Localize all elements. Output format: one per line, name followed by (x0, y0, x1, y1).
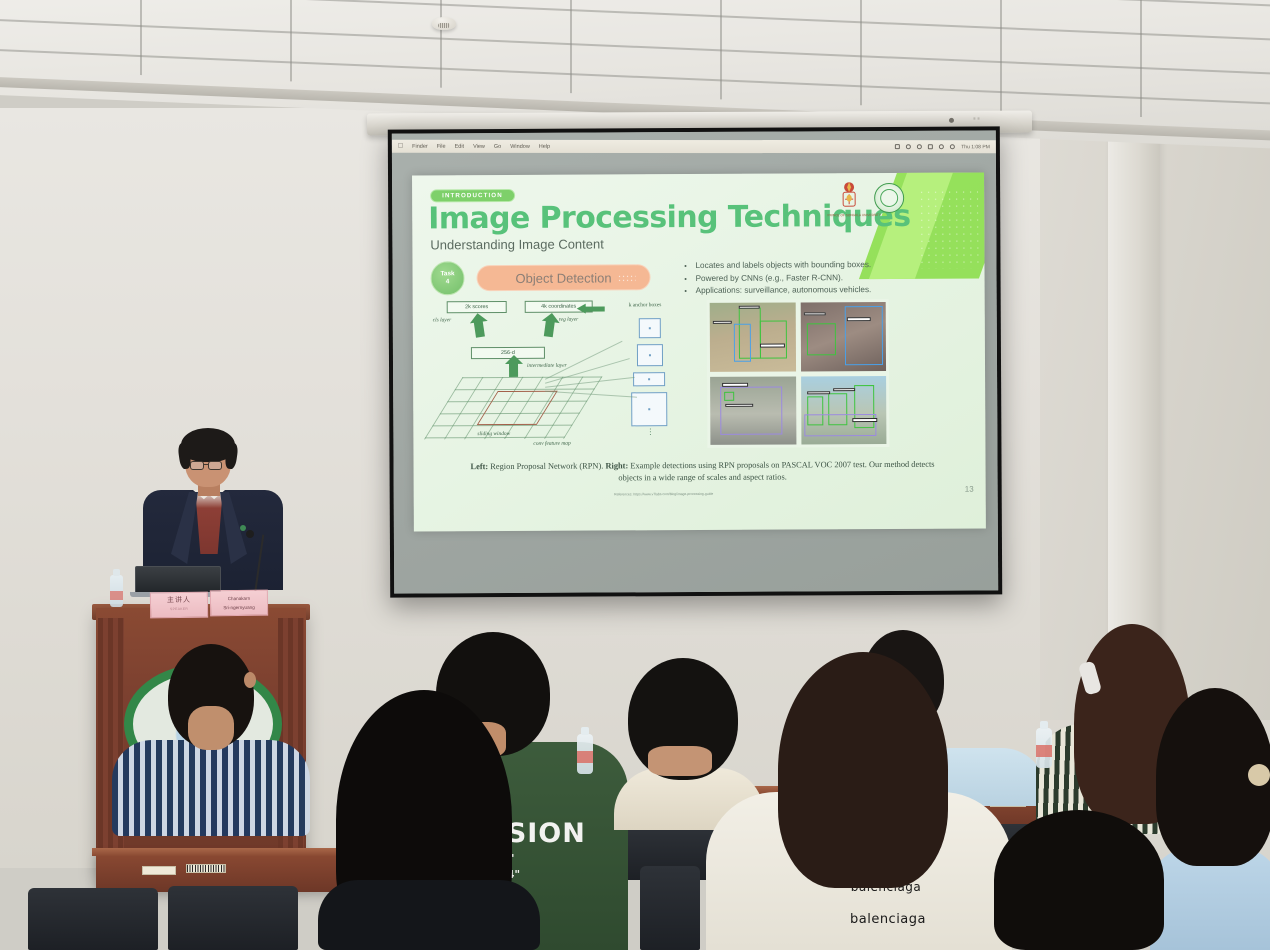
anchor-arrow-icon (585, 306, 605, 311)
wifi-icon[interactable] (906, 144, 911, 149)
projection-screen:  Finder File Edit View Go Window Help T… (388, 126, 1002, 597)
task-badge-label: Task (440, 270, 454, 278)
menu-bar-clock[interactable]: Thu 1:08 PM (961, 144, 990, 150)
name-card-speaker-first: Chanakarn (228, 594, 251, 603)
anchor-box (639, 318, 661, 338)
caption-right-text: Example detections using RPN proposals o… (618, 460, 934, 483)
screen-share-icon[interactable] (895, 144, 900, 149)
seat (28, 888, 158, 950)
person-hair (778, 652, 948, 888)
battery-icon[interactable] (928, 144, 933, 149)
arrow-to-cls-icon (474, 321, 485, 338)
caption-right-label: Right: (605, 461, 628, 470)
conv-feature-map-grid (424, 376, 602, 439)
arrow-to-intermediate-icon (509, 363, 518, 377)
detection-photo-indoor (800, 302, 886, 371)
task-badge: Task 4 (430, 261, 464, 295)
slide-number: 13 (965, 485, 974, 494)
person-neck (648, 746, 712, 776)
desk-row-left-top (92, 848, 350, 856)
menu-item-go[interactable]: Go (494, 143, 501, 149)
name-card-chinese-main: 主讲人 (167, 596, 191, 605)
seat (640, 866, 700, 950)
name-card-speaker-last: Sri-ngernyuang (223, 603, 255, 612)
menu-item-view[interactable]: View (473, 143, 485, 149)
anchor-box (637, 344, 663, 366)
podium-laptop (135, 566, 221, 594)
task-badge-number: 4 (446, 278, 450, 286)
seat (168, 886, 298, 950)
crest-caption: PRINCE OF SONGKLA UNIVERSITY (824, 213, 884, 217)
speaker-glasses-left-lens (190, 461, 204, 470)
rpn-diagram: 2k scores 4k coordinates 256-d cls layer… (433, 300, 694, 449)
diagram-label-reg: reg layer (559, 317, 578, 323)
name-card-chinese: 主讲人 SPEAKER (150, 592, 208, 619)
menu-item-edit[interactable]: Edit (455, 143, 464, 149)
caption-left-label: Left: (471, 462, 489, 471)
person-torso (318, 880, 540, 950)
bottle-label (110, 591, 123, 600)
menu-bar-status-area[interactable]: Thu 1:08 PM (895, 144, 990, 150)
menu-item-finder[interactable]: Finder (412, 143, 428, 149)
slide-subtitle: Understanding Image Content (430, 236, 604, 252)
diagram-label-intermediate: intermediate layer (527, 363, 567, 369)
caption-left-text: Region Proposal Network (RPN). (490, 461, 603, 471)
desk-barcode-tag (186, 864, 226, 873)
sliding-window-box (477, 391, 558, 425)
detection-photo-bus (710, 376, 796, 445)
person-torso (112, 740, 310, 836)
arrow-to-reg-icon (544, 320, 555, 337)
speaker-glasses-bridge (204, 464, 208, 465)
speaker-lapel-pin (240, 525, 246, 531)
search-icon[interactable] (950, 144, 955, 149)
university-seal-icon (874, 183, 904, 213)
menu-item-file[interactable]: File (437, 143, 446, 149)
water-bottle (1036, 728, 1052, 768)
lecture-hall-photo: ≡ ≡  Finder File Edit View Go Window He… (0, 0, 1270, 950)
housing-indicator-icon (949, 118, 954, 123)
housing-label: ≡ ≡ (973, 116, 980, 121)
person-ear (244, 672, 256, 688)
microphone-head-icon (246, 530, 254, 538)
person-neck (188, 706, 234, 750)
smoke-detector-icon (432, 17, 456, 30)
bluetooth-icon[interactable] (917, 144, 922, 149)
podium-water-bottle (110, 575, 123, 607)
thai-university-crest-icon (836, 181, 862, 211)
anchor-ellipsis: ⋮ (646, 430, 654, 433)
hoodie-brand-text-2: balenciaga (828, 912, 948, 927)
water-bottle (577, 734, 593, 774)
diagram-label-feature-map: conv feature map (533, 441, 570, 447)
person-hair (994, 810, 1164, 950)
diagram-label-cls: cls layer (433, 317, 451, 323)
slide-reference: References: https://www.v7labs.com/blog/… (514, 491, 814, 497)
diagram-box-scores: 2k scores (447, 301, 507, 313)
detection-photo-street (801, 375, 887, 444)
figure-caption: Left: Region Proposal Network (RPN). Rig… (460, 459, 946, 486)
presentation-slide: INTRODUCTION Image Processing Techniques… (412, 172, 986, 531)
topic-pill-label: Object Detection (515, 270, 611, 286)
apple-logo-icon[interactable]:  (398, 143, 403, 150)
pill-dots-decoration (618, 274, 636, 283)
anchor-box (633, 372, 665, 386)
menu-item-help[interactable]: Help (539, 143, 550, 149)
name-card-chinese-sub: SPEAKER (170, 605, 188, 614)
desk-asset-tag (142, 866, 176, 875)
menu-item-window[interactable]: Window (510, 143, 530, 149)
control-center-icon[interactable] (939, 144, 944, 149)
detection-photo-horses (710, 302, 796, 371)
bullet-item: Applications: surveillance, autonomous v… (696, 284, 965, 298)
speaker-glasses-right-lens (208, 461, 222, 470)
detection-examples-grid (707, 299, 890, 448)
hair-tie-icon (1248, 764, 1270, 786)
slide-accent-dots (918, 189, 978, 269)
slide-bullet-list: Locates and labels objects with bounding… (684, 259, 964, 298)
topic-pill: Object Detection (476, 264, 650, 291)
wall-column (1108, 108, 1160, 668)
mac-menu-bar[interactable]:  Finder File Edit View Go Window Help T… (392, 140, 996, 154)
diagram-label-anchor-boxes: k anchor boxes (629, 302, 662, 308)
name-card-speaker: Chanakarn Sri-ngernyuang (210, 590, 268, 617)
